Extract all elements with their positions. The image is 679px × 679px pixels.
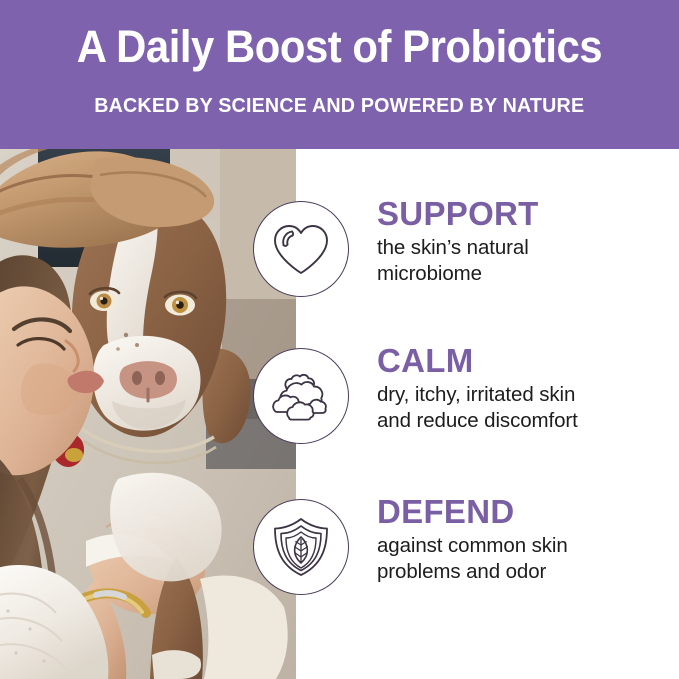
shield-leaf-icon-glyph bbox=[265, 511, 337, 583]
feature-support-text: SUPPORT the skin’s natural microbiome bbox=[377, 197, 677, 287]
page-subtitle: BACKED BY SCIENCE AND POWERED BY NATURE bbox=[94, 69, 584, 117]
feature-calm-desc-line-1: dry, itchy, irritated skin bbox=[377, 382, 677, 408]
header-banner: A Daily Boost of Probiotics BACKED BY SC… bbox=[0, 0, 679, 149]
feature-defend-text: DEFEND against common skin problems and … bbox=[377, 495, 677, 585]
promo-poster: A Daily Boost of Probiotics BACKED BY SC… bbox=[0, 0, 679, 679]
hero-photo bbox=[0, 149, 296, 679]
feature-support-title: SUPPORT bbox=[377, 197, 677, 231]
features-panel: SUPPORT the skin’s natural microbiome bbox=[296, 149, 679, 679]
feature-support-desc-line-2: microbiome bbox=[377, 261, 677, 287]
feature-support-desc: the skin’s natural microbiome bbox=[377, 235, 677, 287]
feature-defend-desc: against common skin problems and odor bbox=[377, 533, 677, 585]
feature-support-desc-line-1: the skin’s natural bbox=[377, 235, 677, 261]
feature-defend-desc-line-1: against common skin bbox=[377, 533, 677, 559]
heart-icon bbox=[253, 201, 349, 297]
feature-defend-title: DEFEND bbox=[377, 495, 677, 529]
feature-calm-desc: dry, itchy, irritated skin and reduce di… bbox=[377, 382, 677, 434]
feature-calm-desc-line-2: and reduce discomfort bbox=[377, 408, 677, 434]
clouds-icon bbox=[253, 348, 349, 444]
shield-leaf-icon bbox=[253, 499, 349, 595]
feature-calm-text: CALM dry, itchy, irritated skin and redu… bbox=[377, 344, 677, 434]
feature-defend-desc-line-2: problems and odor bbox=[377, 559, 677, 585]
page-title: A Daily Boost of Probiotics bbox=[77, 0, 602, 69]
clouds-icon-glyph bbox=[264, 359, 338, 433]
feature-calm-title: CALM bbox=[377, 344, 677, 378]
heart-icon-glyph bbox=[265, 213, 337, 285]
hero-photo-illustration bbox=[0, 149, 296, 679]
